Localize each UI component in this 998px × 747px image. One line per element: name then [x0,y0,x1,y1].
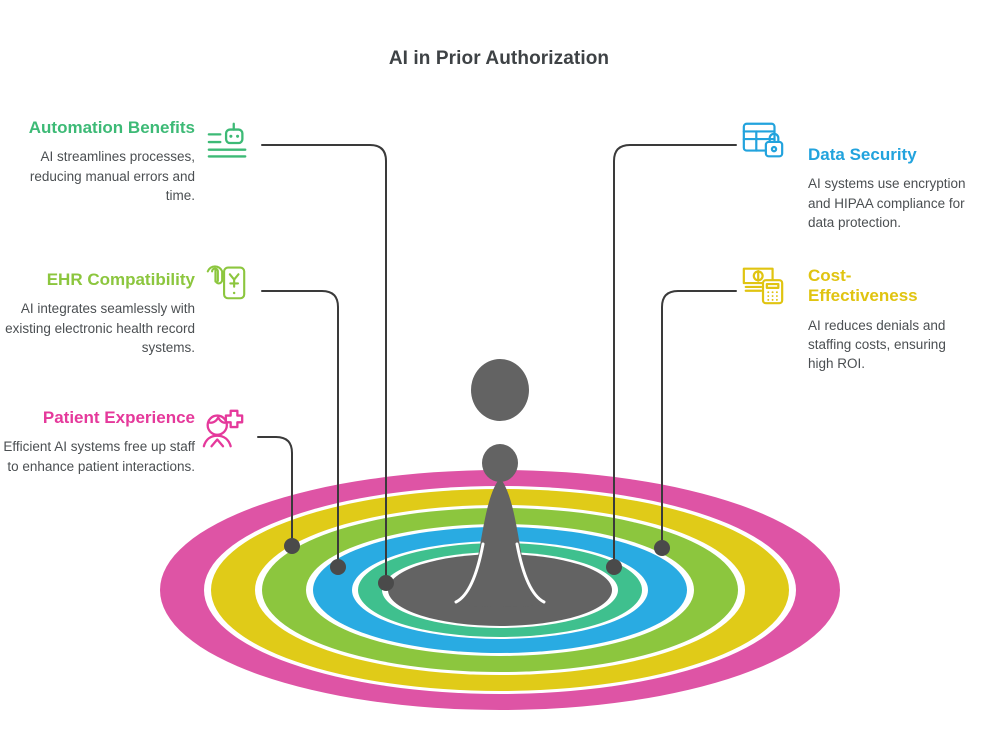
connector-dot-ehr [330,559,346,575]
feature-patient-title: Patient Experience [43,408,195,428]
database-lock-icon [740,118,786,164]
icon-slot-cost [740,262,786,308]
feature-patient: Patient Experience Efficient AI systems … [0,408,195,476]
feature-cost-head: Cost-Effectiveness [808,266,998,307]
patient-nurse-cross-icon [200,406,246,452]
connector-dot-security [606,559,622,575]
connector-patient [258,437,292,539]
connector-dot-automation [378,575,394,591]
feature-automation-head: Automation Benefits [0,118,195,138]
icon-slot-patient [200,406,246,452]
infographic-canvas: AI in Prior Authorization [0,0,998,747]
icon-slot-security [740,118,786,164]
feature-security: Data Security AI systems use encryption … [808,145,998,232]
connector-dot-cost [654,540,670,556]
connector-ehr [262,291,338,559]
feature-automation-description: AI streamlines processes, reducing manua… [0,147,195,204]
icon-slot-automation [205,120,251,166]
robot-document-icon [205,120,251,166]
feature-ehr-head: EHR Compatibility [0,270,195,290]
connector-lines [0,0,998,747]
feature-cost: Cost-Effectiveness AI reduces denials an… [808,266,998,373]
feature-automation: Automation Benefits AI streamlines proce… [0,118,195,205]
connector-automation [262,145,386,575]
connector-dot-patient [284,538,300,554]
feature-ehr-description: AI integrates seamlessly with existing e… [0,299,195,356]
icon-slot-ehr [203,258,249,304]
feature-cost-title: Cost-Effectiveness [808,266,938,307]
feature-patient-head: Patient Experience [0,408,195,428]
feature-cost-description: AI reduces denials and staffing costs, e… [808,316,973,373]
feature-ehr: EHR Compatibility AI integrates seamless… [0,270,195,357]
connector-security [614,145,736,559]
feature-security-title: Data Security [808,145,917,165]
fingerprint-mobile-health-icon [203,258,249,304]
money-calculator-icon [740,262,786,308]
feature-ehr-title: EHR Compatibility [47,270,195,290]
connector-cost [662,291,736,541]
feature-security-head: Data Security [808,145,998,165]
feature-security-description: AI systems use encryption and HIPAA comp… [808,174,968,231]
feature-automation-title: Automation Benefits [29,118,195,138]
feature-patient-description: Efficient AI systems free up staff to en… [0,437,195,475]
